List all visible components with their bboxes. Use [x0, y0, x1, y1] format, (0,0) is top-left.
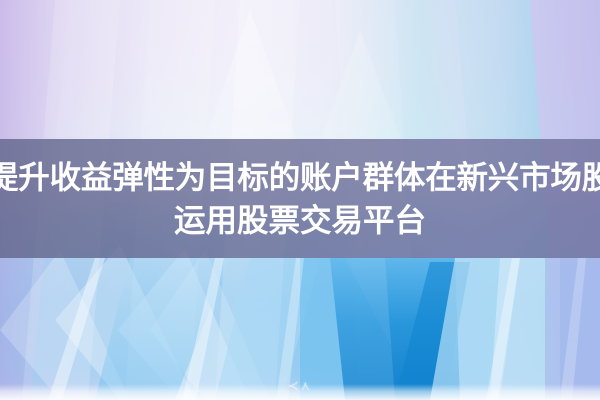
title-line-2: 运用股票交易平台	[174, 199, 426, 242]
promo-banner: 以提升收益弹性为目标的账户群体在新兴市场股市 运用股票交易平台 ≺⋏	[0, 0, 600, 400]
title-band: 以提升收益弹性为目标的账户群体在新兴市场股市 运用股票交易平台	[0, 139, 600, 258]
title-line-1: 以提升收益弹性为目标的账户群体在新兴市场股市	[0, 156, 600, 199]
